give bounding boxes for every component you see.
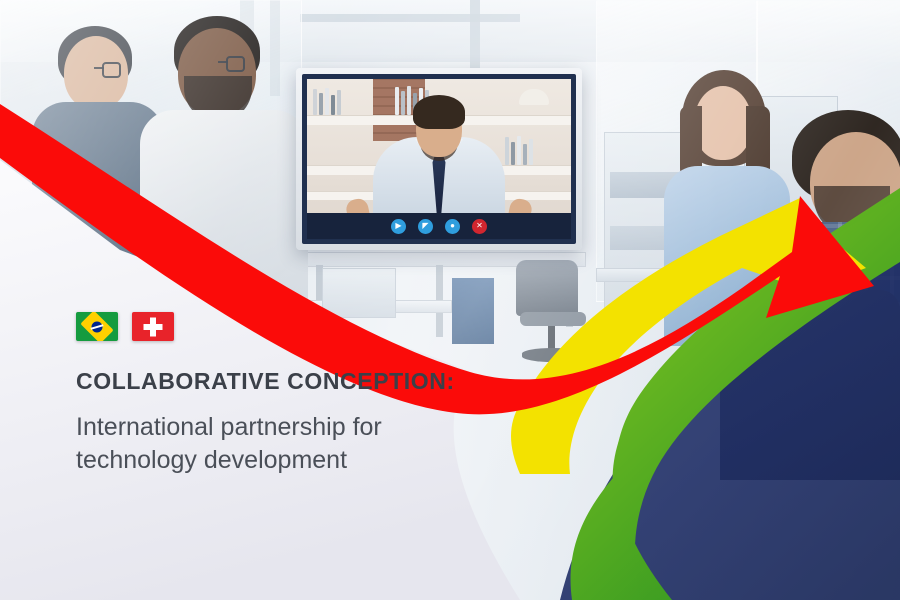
monitor-screen: ▶ ◤ ● ✕ xyxy=(307,79,571,239)
glasses-icon xyxy=(226,56,245,72)
book xyxy=(511,142,515,165)
brazil-flag xyxy=(76,312,118,341)
book xyxy=(401,91,405,115)
office-chair-seat xyxy=(520,312,586,326)
glasses-bridge xyxy=(218,61,228,63)
book xyxy=(395,87,399,115)
book xyxy=(331,95,335,115)
monitor-bezel: ▶ ◤ ● ✕ xyxy=(302,74,576,244)
caller-hair xyxy=(413,95,465,129)
swiss-cross-horizontal xyxy=(144,324,163,330)
banner-graphic: ▶ ◤ ● ✕ xyxy=(0,0,900,600)
record-button[interactable]: ● xyxy=(445,219,460,234)
book xyxy=(325,88,329,115)
book xyxy=(517,136,521,165)
end-call-button[interactable]: ✕ xyxy=(472,219,487,234)
books-left xyxy=(313,87,341,115)
text-content-block: COLLABORATIVE CONCEPTION: International … xyxy=(76,312,496,478)
office-chair-base xyxy=(522,348,584,362)
page-subtitle: International partnership for technology… xyxy=(76,411,496,478)
book xyxy=(523,144,527,165)
book xyxy=(337,90,341,115)
person-man-left-glasses xyxy=(28,10,158,280)
call-control-bar: ▶ ◤ ● ✕ xyxy=(307,213,571,239)
page-title: COLLABORATIVE CONCEPTION: xyxy=(76,367,496,395)
book xyxy=(319,93,323,115)
book xyxy=(313,89,317,115)
head xyxy=(694,86,752,160)
foreground-office-chair xyxy=(720,290,900,480)
book xyxy=(529,139,533,165)
books-right xyxy=(505,135,533,165)
flag-row xyxy=(76,312,496,341)
ceiling-beam xyxy=(470,0,480,70)
person-man-left-beard xyxy=(140,6,300,296)
office-chair-back xyxy=(516,260,578,316)
video-call-display[interactable]: ▶ ◤ ● ✕ xyxy=(296,68,582,250)
torso xyxy=(140,110,308,310)
glasses-icon xyxy=(102,62,121,78)
camera-button[interactable]: ▶ xyxy=(391,219,406,234)
ceiling-beam xyxy=(300,14,520,22)
book xyxy=(407,86,411,115)
volume-button[interactable]: ◤ xyxy=(418,219,433,234)
under-desk-cabinet xyxy=(322,268,396,318)
switzerland-flag xyxy=(132,312,174,341)
book xyxy=(505,137,509,165)
glasses-bridge xyxy=(94,67,104,69)
